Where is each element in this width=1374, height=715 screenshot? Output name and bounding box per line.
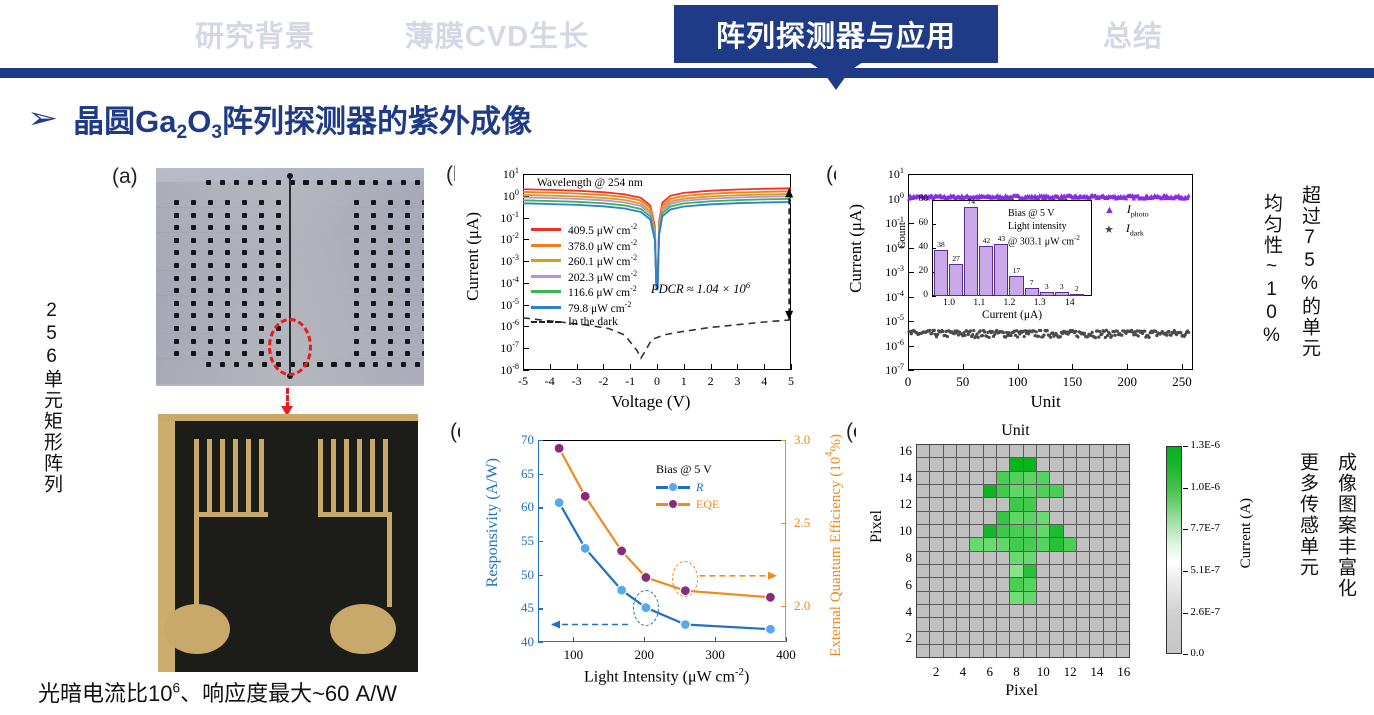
- panel-c-inset-ytick-1: 20: [910, 266, 928, 276]
- panel-e-ytick-3: 8: [892, 550, 912, 566]
- panel-b-legend-item-4: 116.6 μW cm-2: [531, 284, 637, 299]
- panel-e-cell-9-12: [1024, 498, 1036, 510]
- panel-e-cell-7-4: [997, 605, 1009, 617]
- panel-d-legend-title: Bias @ 5 V: [656, 462, 712, 477]
- panel-e-cell-14-4: [1090, 605, 1102, 617]
- panel-e-cell-16-10: [1117, 525, 1129, 537]
- panel-e-cell-16-16: [1117, 445, 1129, 457]
- panel-e-cell-12-8: [1064, 552, 1076, 564]
- panel-e-cell-3-6: [944, 578, 956, 590]
- panel-e-cell-1-1: [917, 645, 929, 657]
- panel-e-cell-11-3: [1050, 618, 1062, 630]
- panel-e-cell-7-8: [997, 552, 1009, 564]
- panel-e-cell-5-12: [970, 498, 982, 510]
- panel-c-unit-uniformity: 10110010-110-210-310-410-510-610-7050100…: [836, 160, 1231, 410]
- panel-e-cell-10-1: [1037, 645, 1049, 657]
- panel-e-cell-15-9: [1104, 538, 1116, 550]
- panel-e-cell-10-9: [1037, 538, 1049, 550]
- panel-d-legend-item-1: EQE: [656, 497, 719, 512]
- panel-e-cell-14-5: [1090, 592, 1102, 604]
- panel-c-inset-ytick-mark-3: [932, 224, 936, 225]
- panel-e-ytick-0: 2: [892, 630, 912, 646]
- panel-e-pixel-imaging: Unit246810121416246810121416PixelPixel1.…: [856, 418, 1276, 693]
- panel-e-colorbar-tick-mark-2: [1183, 529, 1188, 530]
- panel-e-cell-8-1: [1010, 645, 1022, 657]
- top-navigation-bar: 研究背景薄膜CVD生长阵列探测器与应用总结: [0, 0, 1374, 80]
- panel-e-cell-13-14: [1077, 472, 1089, 484]
- panel-e-cell-4-7: [957, 565, 969, 577]
- panel-e-cell-6-3: [984, 618, 996, 630]
- panel-e-cell-6-11: [984, 512, 996, 524]
- panel-e-cell-5-16: [970, 445, 982, 457]
- wafer-array-micrograph: [156, 168, 424, 386]
- panel-c-inset-ylabel: Count: [896, 222, 908, 249]
- panel-e-cell-15-7: [1104, 565, 1116, 577]
- panel-e-cell-16-11: [1117, 512, 1129, 524]
- panel-e-cell-8-14: [1010, 472, 1022, 484]
- panel-c-inset-bar-7: [1040, 292, 1054, 296]
- panel-e-cell-2-13: [930, 485, 942, 497]
- panel-e-cell-8-16: [1010, 445, 1022, 457]
- panel-e-cell-4-3: [957, 618, 969, 630]
- panel-c-inset-barlabel-3: 42: [979, 236, 993, 245]
- panel-e-cell-6-4: [984, 605, 996, 617]
- panel-c-inset-bar-2: [964, 207, 978, 296]
- panel-e-cell-11-6: [1050, 578, 1062, 590]
- panel-e-xtick-6: 14: [1088, 664, 1106, 680]
- panel-e-cell-11-11: [1050, 512, 1062, 524]
- panel-e-cell-12-10: [1064, 525, 1076, 537]
- panel-e-cell-8-7: [1010, 565, 1022, 577]
- panel-e-cell-3-12: [944, 498, 956, 510]
- panel-e-cell-7-15: [997, 458, 1009, 470]
- panel-e-cell-12-2: [1064, 632, 1076, 644]
- panel-c-inset-bar-5: [1009, 276, 1023, 296]
- panel-e-cell-1-16: [917, 445, 929, 457]
- panel-e-cell-13-15: [1077, 458, 1089, 470]
- panel-c-inset-barlabel-6: 7: [1025, 278, 1039, 287]
- panel-b-legend-swatch-6: [531, 321, 561, 323]
- horizontal-bus-electrode: [158, 414, 418, 421]
- panel-e-cell-13-7: [1077, 565, 1089, 577]
- panel-e-cell-7-6: [997, 578, 1009, 590]
- nav-active-notch: [809, 62, 863, 88]
- panel-b-curves: [455, 160, 835, 410]
- panel-e-cell-10-8: [1037, 552, 1049, 564]
- panel-e-cell-15-12: [1104, 498, 1116, 510]
- panel-e-cell-12-6: [1064, 578, 1076, 590]
- panel-e-colorbar-label: Current (A): [1238, 498, 1255, 568]
- panel-e-cell-11-14: [1050, 472, 1062, 484]
- panel-e-cell-14-12: [1090, 498, 1102, 510]
- panel-e-cell-2-7: [930, 565, 942, 577]
- panel-e-cell-4-11: [957, 512, 969, 524]
- panel-b-pdcr-annotation: PDCR ≈ 1.04 × 106: [651, 280, 750, 297]
- panel-c-inset-ytick-0: 0: [910, 290, 928, 300]
- title-sub-2: 3: [211, 122, 222, 143]
- panel-e-cell-5-4: [970, 605, 982, 617]
- title-seg-1: 晶圆Ga: [73, 104, 176, 139]
- panel-e-cell-11-5: [1050, 592, 1062, 604]
- panel-e-cell-11-9: [1050, 538, 1062, 550]
- panel-e-cell-2-16: [930, 445, 942, 457]
- nav-underline: [0, 68, 1374, 78]
- panel-b-legend-item-2: 260.1 μW cm-2: [531, 253, 637, 268]
- panel-e-cell-16-12: [1117, 498, 1129, 510]
- panel-e-cell-9-11: [1024, 512, 1036, 524]
- panel-e-cell-12-13: [1064, 485, 1076, 497]
- panel-e-cell-7-5: [997, 592, 1009, 604]
- panel-e-ytick-7: 16: [892, 443, 912, 459]
- panel-e-cell-4-14: [957, 472, 969, 484]
- nav-tab-0[interactable]: 研究背景: [160, 8, 350, 60]
- panel-c-inset-xtick-4: 14: [1059, 298, 1081, 308]
- panel-e-cell-9-6: [1024, 578, 1036, 590]
- panel-e-cell-10-10: [1037, 525, 1049, 537]
- panel-c-inset-barlabel-5: 17: [1009, 266, 1023, 275]
- panel-e-xtick-0: 2: [927, 664, 945, 680]
- panel-b-legend-label-5: 79.8 μW cm-2: [568, 300, 631, 315]
- panel-e-cell-11-4: [1050, 605, 1062, 617]
- caption-seg-1: 光暗电流比10: [38, 681, 172, 706]
- panel-c-inset-ytick-mark-4: [932, 200, 936, 201]
- panel-d-legend-item-0: R: [656, 480, 703, 495]
- panel-e-cell-12-4: [1064, 605, 1076, 617]
- panel-e-cell-15-16: [1104, 445, 1116, 457]
- panel-e-cell-8-3: [1010, 618, 1022, 630]
- panel-e-cell-5-7: [970, 565, 982, 577]
- panel-e-cell-2-5: [930, 592, 942, 604]
- panel-b-legend-label-3: 202.3 μW cm-2: [568, 269, 637, 284]
- panel-e-ylabel: Pixel: [868, 510, 886, 543]
- panel-c-inset-xtick-1: 1.1: [968, 298, 990, 308]
- panel-e-cell-15-15: [1104, 458, 1116, 470]
- panel-e-xtick-7: 16: [1115, 664, 1133, 680]
- panel-e-cell-11-12: [1050, 498, 1062, 510]
- panel-e-cell-1-6: [917, 578, 929, 590]
- panel-e-ytick-6: 14: [892, 470, 912, 486]
- panel-e-cell-8-13: [1010, 485, 1022, 497]
- panel-b-legend-label-1: 378.0 μW cm-2: [568, 238, 637, 253]
- panel-e-cell-4-4: [957, 605, 969, 617]
- panel-e-cell-5-9: [970, 538, 982, 550]
- contact-pad-right: [330, 604, 396, 654]
- panel-e-cell-6-10: [984, 525, 996, 537]
- panel-e-cell-15-11: [1104, 512, 1116, 524]
- panel-e-cell-1-8: [917, 552, 929, 564]
- panel-c-legend-label-0: Iphoto: [1127, 202, 1149, 218]
- title-sub-1: 2: [177, 122, 188, 143]
- panel-e-cell-13-5: [1077, 592, 1089, 604]
- panel-e-cell-4-6: [957, 578, 969, 590]
- panel-e-cell-13-9: [1077, 538, 1089, 550]
- panel-e-cell-11-7: [1050, 565, 1062, 577]
- panel-e-cell-8-15: [1010, 458, 1022, 470]
- panel-e-cell-14-16: [1090, 445, 1102, 457]
- panel-e-cell-4-16: [957, 445, 969, 457]
- panel-c-inset-bar-8: [1055, 292, 1069, 296]
- panel-c-inset-barlabel-9: 2: [1070, 284, 1084, 293]
- panel-e-cell-5-13: [970, 485, 982, 497]
- panel-e-cell-7-16: [997, 445, 1009, 457]
- panel-d-legend-label-0: R: [696, 480, 703, 495]
- panel-e-cell-10-7: [1037, 565, 1049, 577]
- panel-e-cell-13-13: [1077, 485, 1089, 497]
- panel-e-xlabel: Pixel: [1005, 682, 1038, 700]
- panel-e-cell-2-15: [930, 458, 942, 470]
- panel-e-cell-6-16: [984, 445, 996, 457]
- panel-e-cell-7-2: [997, 632, 1009, 644]
- panel-e-cell-7-14: [997, 472, 1009, 484]
- panel-e-cell-11-2: [1050, 632, 1062, 644]
- panel-c-legend-item-1: ★Idark: [1104, 221, 1144, 237]
- panel-e-cell-15-1: [1104, 645, 1116, 657]
- panel-e-cell-13-10: [1077, 525, 1089, 537]
- panel-e-cell-15-8: [1104, 552, 1116, 564]
- panel-e-cell-6-7: [984, 565, 996, 577]
- panel-e-cell-4-13: [957, 485, 969, 497]
- panel-c-inset-note-0: Bias @ 5 V: [1008, 208, 1055, 219]
- panel-e-cell-12-11: [1064, 512, 1076, 524]
- panel-e-cell-14-15: [1090, 458, 1102, 470]
- panel-e-cell-10-14: [1037, 472, 1049, 484]
- nav-tab-2[interactable]: 阵列探测器与应用: [675, 6, 997, 62]
- panel-e-cell-16-6: [1117, 578, 1129, 590]
- panel-e-cell-16-3: [1117, 618, 1129, 630]
- panel-e-cell-1-12: [917, 498, 929, 510]
- panel-c-inset-ytick-2: 40: [910, 242, 928, 252]
- panel-e-cell-7-9: [997, 538, 1009, 550]
- panel-e-cell-6-9: [984, 538, 996, 550]
- panel-e-cell-16-7: [1117, 565, 1129, 577]
- panel-e-cell-10-15: [1037, 458, 1049, 470]
- panel-e-cell-11-15: [1050, 458, 1062, 470]
- panel-e-xtick-5: 12: [1061, 664, 1079, 680]
- panel-e-cell-16-9: [1117, 538, 1129, 550]
- bullet-arrow-icon: ➢: [27, 104, 58, 134]
- panel-c-legend-marker-1: ★: [1104, 223, 1114, 236]
- panel-e-cell-3-5: [944, 592, 956, 604]
- panel-d-guide-ellipse-r: [633, 590, 659, 626]
- panel-e-cell-11-8: [1050, 552, 1062, 564]
- right-annotation-uniformity-percent: 均匀性~10%: [1258, 193, 1285, 348]
- panel-e-cell-8-5: [1010, 592, 1022, 604]
- panel-e-cell-5-2: [970, 632, 982, 644]
- panel-e-xtick-1: 4: [954, 664, 972, 680]
- panel-e-cell-11-13: [1050, 485, 1062, 497]
- panel-e-cell-9-8: [1024, 552, 1036, 564]
- panel-e-xtick-2: 6: [981, 664, 999, 680]
- panel-c-inset-bar-4: [994, 244, 1008, 296]
- panel-e-cell-13-3: [1077, 618, 1089, 630]
- title-seg-3: 阵列探测器的紫外成像: [222, 104, 532, 139]
- panel-c-inset-xtick-2: 1.2: [998, 298, 1020, 308]
- panel-e-cell-4-1: [957, 645, 969, 657]
- panel-e-cell-4-12: [957, 498, 969, 510]
- panel-e-colorbar-tick-0: 1.3E-6: [1190, 439, 1220, 451]
- panel-e-cell-14-8: [1090, 552, 1102, 564]
- panel-e-cell-4-9: [957, 538, 969, 550]
- panel-e-cell-5-11: [970, 512, 982, 524]
- panel-e-cell-9-10: [1024, 525, 1036, 537]
- panel-e-cell-2-6: [930, 578, 942, 590]
- panel-e-cell-16-15: [1117, 458, 1129, 470]
- panel-e-cell-6-12: [984, 498, 996, 510]
- panel-e-colorbar: [1166, 446, 1182, 654]
- panel-e-cell-5-3: [970, 618, 982, 630]
- panel-c-inset-ytick-3: 60: [910, 218, 928, 228]
- caption-seg-2: 、响应度最大~60 A/W: [180, 681, 397, 706]
- panel-e-cell-3-7: [944, 565, 956, 577]
- panel-e-cell-2-1: [930, 645, 942, 657]
- panel-e-cell-3-16: [944, 445, 956, 457]
- panel-b-legend-swatch-1: [531, 244, 561, 247]
- panel-d-legend-swatch-0: [656, 486, 690, 488]
- panel-e-cell-14-10: [1090, 525, 1102, 537]
- panel-e-cell-3-14: [944, 472, 956, 484]
- panel-e-cell-8-9: [1010, 538, 1022, 550]
- panel-e-cell-5-5: [970, 592, 982, 604]
- panel-e-cell-16-13: [1117, 485, 1129, 497]
- panel-e-cell-9-15: [1024, 458, 1036, 470]
- panel-c-inset-bar-6: [1025, 288, 1039, 296]
- panel-e-cell-4-2: [957, 632, 969, 644]
- panel-e-cell-10-4: [1037, 605, 1049, 617]
- panel-e-xtick-3: 8: [1008, 664, 1026, 680]
- panel-e-cell-8-10: [1010, 525, 1022, 537]
- panel-e-colorbar-tick-2: 7.7E-7: [1190, 522, 1220, 534]
- panel-e-cell-14-2: [1090, 632, 1102, 644]
- panel-e-cell-12-5: [1064, 592, 1076, 604]
- panel-e-cell-9-3: [1024, 618, 1036, 630]
- panel-b-legend-label-6: In the dark: [568, 316, 618, 328]
- panel-e-cell-13-16: [1077, 445, 1089, 457]
- panel-e-cell-6-14: [984, 472, 996, 484]
- panel-e-cell-13-6: [1077, 578, 1089, 590]
- panel-e-cell-9-16: [1024, 445, 1036, 457]
- panel-e-ytick-5: 12: [892, 496, 912, 512]
- panel-e-cell-13-8: [1077, 552, 1089, 564]
- nav-tab-3[interactable]: 总结: [1068, 8, 1198, 60]
- panel-c-inset-bar-3: [979, 246, 993, 296]
- panel-e-cell-4-15: [957, 458, 969, 470]
- panel-c-inset-barlabel-7: 3: [1040, 282, 1054, 291]
- panel-b-legend-item-5: 79.8 μW cm-2: [531, 300, 631, 315]
- panel-e-cell-10-11: [1037, 512, 1049, 524]
- panel-e-cell-7-13: [997, 485, 1009, 497]
- panel-b-legend-item-0: 409.5 μW cm-2: [531, 222, 637, 237]
- panel-e-cell-10-2: [1037, 632, 1049, 644]
- panel-e-cell-1-2: [917, 632, 929, 644]
- panel-e-cell-10-6: [1037, 578, 1049, 590]
- panel-c-legend-label-1: Idark: [1126, 221, 1144, 237]
- panel-e-xtick-4: 10: [1034, 664, 1052, 680]
- panel-e-cell-13-12: [1077, 498, 1089, 510]
- panel-b-legend-swatch-2: [531, 259, 561, 262]
- panel-c-inset-barlabel-0: 38: [934, 240, 948, 249]
- panel-e-cell-3-10: [944, 525, 956, 537]
- panel-e-cell-1-4: [917, 605, 929, 617]
- panel-c-inset-xtick-0: 1.0: [938, 298, 960, 308]
- panel-e-cell-2-8: [930, 552, 942, 564]
- panel-e-cell-8-12: [1010, 498, 1022, 510]
- panel-e-cell-2-11: [930, 512, 942, 524]
- panel-e-cell-16-5: [1117, 592, 1129, 604]
- panel-e-cell-1-9: [917, 538, 929, 550]
- panel-c-inset-note-1: Light intensity: [1008, 221, 1067, 232]
- panel-e-colorbar-tick-5: 0.0: [1190, 647, 1204, 659]
- panel-e-cell-5-15: [970, 458, 982, 470]
- panel-d-curves: [460, 418, 850, 693]
- panel-e-cell-14-9: [1090, 538, 1102, 550]
- panel-e-cell-9-9: [1024, 538, 1036, 550]
- nav-tab-1[interactable]: 薄膜CVD生长: [372, 8, 622, 60]
- panel-e-cell-10-12: [1037, 498, 1049, 510]
- panel-e-cell-1-11: [917, 512, 929, 524]
- panel-e-cell-12-7: [1064, 565, 1076, 577]
- panel-e-cell-16-1: [1117, 645, 1129, 657]
- panel-c-inset-bar-9: [1070, 294, 1084, 296]
- panel-e-cell-9-1: [1024, 645, 1036, 657]
- panel-c-legend-marker-0: ▲: [1104, 204, 1115, 216]
- panel-b-legend-label-0: 409.5 μW cm-2: [568, 222, 637, 237]
- panel-d-responsivity-eqe: 404550556065702.02.53.0100200300400Light…: [460, 418, 850, 693]
- panel-e-cell-12-14: [1064, 472, 1076, 484]
- panel-e-colorbar-tick-mark-3: [1183, 571, 1188, 572]
- panel-e-cell-3-9: [944, 538, 956, 550]
- panel-e-cell-16-4: [1117, 605, 1129, 617]
- panel-e-cell-11-1: [1050, 645, 1062, 657]
- panel-b-legend-swatch-3: [531, 275, 561, 278]
- panel-e-cell-13-4: [1077, 605, 1089, 617]
- panel-d-legend-swatch-1: [656, 503, 690, 505]
- panel-c-inset-bar-0: [934, 250, 948, 296]
- panel-e-cell-8-6: [1010, 578, 1022, 590]
- panel-d-legend-label-1: EQE: [696, 497, 719, 512]
- panel-e-cell-15-6: [1104, 578, 1116, 590]
- panel-e-cell-6-6: [984, 578, 996, 590]
- panel-e-cell-8-2: [1010, 632, 1022, 644]
- panel-e-cell-10-13: [1037, 485, 1049, 497]
- panel-e-cell-2-4: [930, 605, 942, 617]
- panel-b-legend-swatch-5: [531, 306, 561, 309]
- panel-c-inset-ytick-4: 80: [910, 194, 928, 204]
- panel-e-cell-6-5: [984, 592, 996, 604]
- panel-e-cell-3-13: [944, 485, 956, 497]
- title-seg-2: O: [187, 104, 211, 139]
- panel-e-cell-2-10: [930, 525, 942, 537]
- panel-e-cell-1-3: [917, 618, 929, 630]
- panel-e-cell-7-11: [997, 512, 1009, 524]
- panel-e-cell-15-4: [1104, 605, 1116, 617]
- panel-e-cell-12-1: [1064, 645, 1076, 657]
- panel-e-cell-3-2: [944, 632, 956, 644]
- panel-e-cell-14-11: [1090, 512, 1102, 524]
- panel-c-inset-note-2: @ 303.1 μW cm-2: [1008, 234, 1080, 247]
- panel-e-cell-2-9: [930, 538, 942, 550]
- panel-b-legend-label-4: 116.6 μW cm-2: [568, 284, 637, 299]
- left-vertical-annotation: 256单元矩形阵列: [38, 300, 65, 495]
- panel-e-cell-6-13: [984, 485, 996, 497]
- panel-e-colorbar-tick-1: 1.0E-6: [1190, 481, 1220, 493]
- contact-pad-left: [164, 604, 230, 654]
- slide-title-row: ➢ 晶圆Ga2O3阵列探测器的紫外成像: [30, 96, 532, 141]
- panel-e-ytick-4: 10: [892, 523, 912, 539]
- panel-e-cell-9-5: [1024, 592, 1036, 604]
- panel-e-colorbar-tick-mark-1: [1183, 488, 1188, 489]
- panel-e-cell-16-14: [1117, 472, 1129, 484]
- panel-b-legend-swatch-4: [531, 290, 561, 293]
